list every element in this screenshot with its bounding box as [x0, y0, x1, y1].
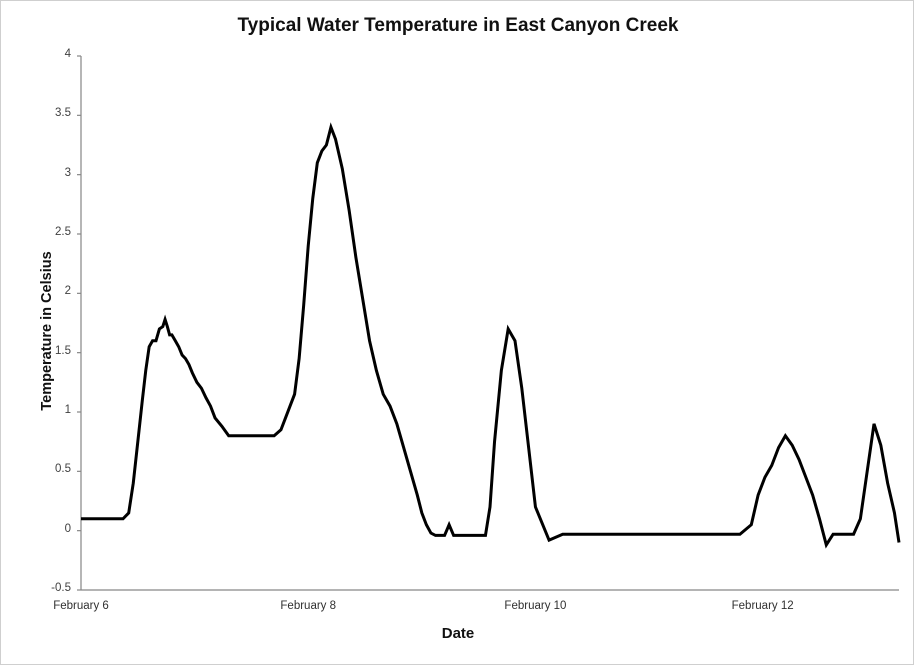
chart-container: Typical Water Temperature in East Canyon… — [0, 0, 914, 665]
plot-area — [1, 1, 914, 666]
data-series-line — [81, 127, 899, 545]
